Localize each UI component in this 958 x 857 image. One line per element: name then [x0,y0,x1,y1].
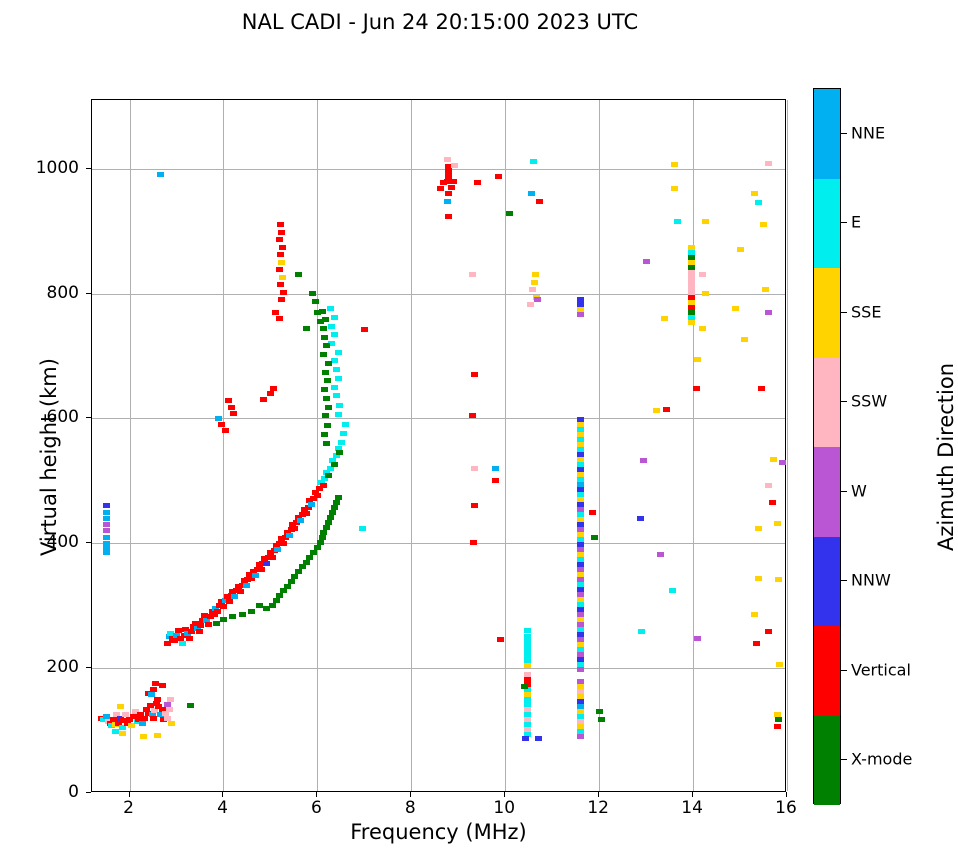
data-point [312,299,319,304]
data-point [333,367,340,372]
data-point [669,588,676,593]
data-point [278,297,285,302]
data-point [320,326,327,331]
data-point [755,526,762,531]
x-axis-label: Frequency (MHz) [91,820,786,844]
data-point [741,337,748,342]
colorbar-tick [841,580,847,581]
colorbar-tick [841,133,847,134]
data-point [492,478,499,483]
data-point [445,214,452,219]
data-point [770,457,777,462]
data-point [471,466,478,471]
data-point [506,211,513,216]
data-point [225,398,232,403]
data-point [524,663,531,668]
data-point [278,230,285,235]
data-point [103,528,110,533]
data-point [528,191,535,196]
data-point [333,500,340,505]
data-point [342,422,349,427]
data-point [321,387,328,392]
data-point [450,179,457,184]
data-point [256,603,263,608]
data-point [589,510,596,515]
data-point [737,247,744,252]
data-point [218,422,225,427]
data-point [103,510,110,515]
data-point [444,199,451,204]
data-point [591,535,598,540]
data-point [309,291,316,296]
data-point [295,569,302,574]
x-tick-label: 6 [311,798,322,818]
data-point [317,319,324,324]
y-tick [86,417,91,418]
colorbar-segment-ssw[interactable] [814,358,840,448]
colorbar-label-vertical: Vertical [851,660,911,679]
data-point [139,721,146,726]
data-point [314,493,321,498]
data-point [258,567,265,572]
data-point [214,609,221,614]
data-point [469,272,476,277]
x-tick-label: 16 [775,798,797,818]
data-point [331,385,338,390]
x-tick-label: 4 [217,798,228,818]
data-point [779,460,786,465]
data-point [150,716,157,721]
data-point [277,252,284,257]
y-tick [86,667,91,668]
x-tick-label: 8 [405,798,416,818]
data-point [640,458,647,463]
data-point [179,641,186,646]
data-point [758,386,765,391]
data-point [314,310,321,315]
data-point [325,520,332,525]
data-point [335,412,342,417]
data-point [440,180,447,185]
data-point [694,357,701,362]
data-point [661,316,668,321]
data-point [497,637,504,642]
data-point [694,636,701,641]
colorbar-segment-vertical[interactable] [814,626,840,716]
data-point [280,541,287,546]
y-tick [86,168,91,169]
data-point [769,500,776,505]
data-point [239,612,246,617]
y-tick-label: 1000 [13,158,79,178]
data-point [154,733,161,738]
data-point [269,555,276,560]
y-tick [86,293,91,294]
x-tick [129,792,130,797]
data-point [534,297,541,302]
data-point [168,721,175,726]
data-point [340,431,347,436]
gridline-vertical [787,100,788,791]
data-point [260,397,267,402]
data-point [322,413,329,418]
data-point [222,428,229,433]
data-point [702,291,709,296]
data-point [653,408,660,413]
data-point [531,280,538,285]
data-point [331,315,338,320]
data-point [263,561,270,566]
data-point [775,717,782,722]
data-point [267,391,274,396]
colorbar-label-nne: NNE [851,123,885,142]
data-point [322,370,329,375]
colorbar-tick [841,670,847,671]
data-point [699,272,706,277]
data-point [336,450,343,455]
data-point [303,326,310,331]
data-point [451,163,458,168]
y-axis-label: Virtual height (km) [37,327,61,587]
data-point [231,594,238,599]
data-point [598,717,605,722]
data-point [755,576,762,581]
data-point [437,186,444,191]
data-point [226,599,233,604]
data-point [688,320,695,325]
data-point [324,378,331,383]
colorbar-label-x-mode: X-mode [851,750,912,769]
data-point [154,697,161,702]
data-point [776,662,783,667]
data-point [331,462,338,467]
y-tick-label: 800 [13,283,79,303]
data-point [445,191,452,196]
data-point [521,684,528,689]
data-point [471,372,478,377]
data-point [702,219,709,224]
y-tick [86,542,91,543]
data-point [164,641,171,646]
ionogram-figure: NAL CADI - Jun 24 20:15:00 2023 UTC 2468… [0,0,958,857]
data-point [103,550,110,555]
data-point [272,310,279,315]
data-point [765,483,772,488]
data-point [522,736,529,741]
data-point [448,185,455,190]
page-title: NAL CADI - Jun 24 20:15:00 2023 UTC [0,10,880,34]
data-point [103,503,110,508]
colorbar-segment-x-mode[interactable] [814,716,840,806]
colorbar-tick [841,222,847,223]
x-tick-label: 14 [681,798,703,818]
data-point [278,260,285,265]
data-point [495,174,502,179]
data-point [148,692,155,697]
data-point [638,629,645,634]
data-point [329,510,336,515]
data-point [774,724,781,729]
data-point [524,672,531,677]
x-tick-label: 2 [123,798,134,818]
data-point [320,530,327,535]
x-tick [504,792,505,797]
colorbar-label-nnw: NNW [851,571,891,590]
data-point [325,361,332,366]
data-point [317,540,324,545]
data-point [693,386,700,391]
plot-area [91,99,786,792]
data-point [248,609,255,614]
data-point [325,405,332,410]
colorbar-segment-nne[interactable] [814,89,840,179]
data-point [774,521,781,526]
data-point [276,316,283,321]
data-point [213,621,220,626]
data-point [288,579,295,584]
data-point [577,734,584,739]
data-point [273,598,280,603]
data-point [119,725,126,730]
data-point [671,186,678,191]
data-point [295,272,302,277]
data-point [196,629,203,634]
data-point [229,614,236,619]
data-point [699,326,706,331]
data-point [524,628,531,633]
data-point [323,441,330,446]
data-point [103,535,110,540]
data-point [119,731,126,736]
data-point [277,282,284,287]
data-point [252,573,259,578]
data-point [765,310,772,315]
colorbar-tick [841,759,847,760]
data-point [166,707,173,712]
data-point [762,287,769,292]
data-point [197,623,204,628]
x-tick [786,792,787,797]
data-points-layer [92,100,785,791]
data-point [536,199,543,204]
y-tick-label: 200 [13,657,79,677]
data-point [280,588,287,593]
data-point [279,275,286,280]
data-point [263,606,270,611]
data-point [323,343,330,348]
data-point [535,736,542,741]
data-point [751,612,758,617]
data-point [141,716,148,721]
data-point [320,352,327,357]
data-point [117,704,124,709]
data-point [291,526,298,531]
data-point [444,157,451,162]
data-point [323,396,330,401]
data-point [297,518,304,523]
data-point [325,473,332,478]
colorbar-label-e: E [851,213,861,232]
data-point [753,641,760,646]
data-point [327,306,334,311]
data-point [286,533,293,538]
data-point [167,697,174,702]
data-point [637,516,644,521]
data-point [527,302,534,307]
data-point [324,423,331,428]
colorbar-segment-nnw[interactable] [814,537,840,627]
data-point [220,617,227,622]
data-point [359,526,366,531]
data-point [243,583,250,588]
data-point [732,306,739,311]
data-point [577,312,584,317]
data-point [765,161,772,166]
data-point [532,272,539,277]
data-point [775,577,782,582]
data-point [335,350,342,355]
data-point [331,332,338,337]
colorbar-segment-sse[interactable] [814,268,840,358]
data-point [276,267,283,272]
colorbar-title: Azimuth Direction [934,297,958,617]
data-point [530,159,537,164]
data-point [279,245,286,250]
data-point [760,222,767,227]
data-point [112,729,119,734]
data-point [577,667,584,672]
data-point [152,681,159,686]
data-point [277,222,284,227]
data-point [471,503,478,508]
colorbar-label-w: W [851,481,867,500]
x-tick [222,792,223,797]
data-point [328,324,335,329]
data-point [335,376,342,381]
data-point [529,287,536,292]
data-point [103,516,110,521]
data-point [303,511,310,516]
colorbar[interactable] [813,88,841,804]
colorbar-label-ssw: SSW [851,392,887,411]
colorbar-tick [841,312,847,313]
data-point [765,629,772,634]
data-point [321,335,328,340]
data-point [671,162,678,167]
data-point [159,683,166,688]
data-point [276,237,283,242]
data-point [657,552,664,557]
data-point [470,540,477,545]
data-point [220,604,227,609]
colorbar-tick [841,401,847,402]
data-point [321,432,328,437]
data-point [230,411,237,416]
x-tick-label: 12 [587,798,609,818]
data-point [469,413,476,418]
data-point [237,589,244,594]
data-point [303,560,310,565]
data-point [186,636,193,641]
data-point [643,259,650,264]
data-point [140,734,147,739]
data-point [492,466,499,471]
data-point [333,393,340,398]
data-point [157,172,164,177]
x-tick [598,792,599,797]
data-point [150,687,157,692]
data-point [755,200,762,205]
data-point [320,483,327,488]
x-tick [692,792,693,797]
data-point [215,416,222,421]
data-point [187,703,194,708]
data-point [103,522,110,527]
y-tick [86,792,91,793]
data-point [274,547,281,552]
data-point [361,327,368,332]
data-point [474,180,481,185]
data-point [751,191,758,196]
y-tick-label: 0 [13,782,79,802]
data-point [310,550,317,555]
colorbar-tick [841,491,847,492]
data-point [228,405,235,410]
colorbar-segment-w[interactable] [814,447,840,537]
colorbar-segment-e[interactable] [814,179,840,269]
colorbar-label-sse: SSE [851,302,881,321]
data-point [663,407,670,412]
data-point [280,290,287,295]
data-point [308,502,315,507]
data-point [270,386,277,391]
data-point [205,622,212,627]
data-point [596,709,603,714]
data-point [336,403,343,408]
data-point [674,219,681,224]
data-point [338,440,345,445]
x-tick [316,792,317,797]
x-tick-label: 10 [493,798,515,818]
x-tick [410,792,411,797]
